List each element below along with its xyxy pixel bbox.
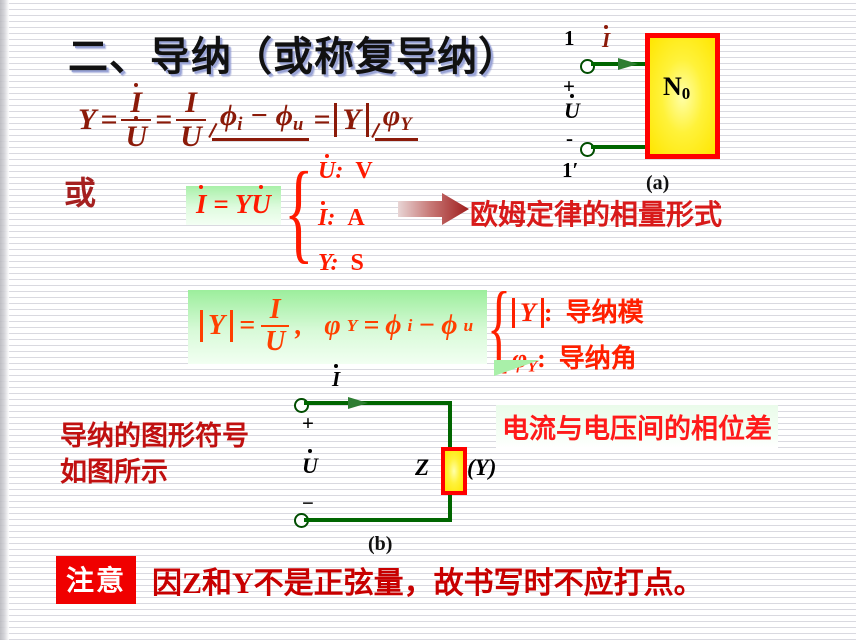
unit-value-V: V bbox=[355, 158, 372, 184]
curly-brace-icon: { bbox=[284, 160, 314, 265]
mod-phi-u-subscript: u bbox=[463, 316, 473, 336]
equation-i-equals-yu: I = YU bbox=[186, 186, 281, 225]
phase-difference-label: 电流与电压间的相位差 bbox=[496, 405, 778, 448]
admittance-symbol-note-line1: 导纳的图形符号 bbox=[60, 418, 249, 454]
unit-value-A: A bbox=[347, 205, 364, 231]
eq-equals-1: = bbox=[100, 103, 117, 137]
ohm-law-phasor-label: 欧姆定律的相量形式 bbox=[470, 193, 722, 233]
abs-Y-2: Y bbox=[200, 310, 233, 342]
mod-phi-i-subscript: i bbox=[407, 316, 412, 336]
admittance-symbol-note-line2: 如图所示 bbox=[60, 454, 249, 490]
fig-b-plus-sign: + bbox=[302, 411, 314, 436]
mod-phiY: φ bbox=[324, 310, 340, 342]
denominator-U: U bbox=[176, 119, 206, 152]
fig-b-wire-bottom bbox=[304, 518, 452, 522]
fig-a-current-label: I bbox=[602, 28, 610, 53]
fraction-Idot-over-Udot: I U bbox=[121, 88, 151, 152]
definitions-curly-brace-icon: { bbox=[487, 282, 511, 372]
label-or: 或 bbox=[64, 168, 96, 214]
mod-equals-1: = bbox=[239, 310, 255, 342]
eq-equals-3: = bbox=[313, 103, 330, 137]
definition-text-angle: 导纳角 bbox=[559, 344, 637, 373]
phi-i: ϕ bbox=[220, 99, 237, 132]
fig-b-admittance-label: (Y) bbox=[467, 455, 496, 481]
fig-a-voltage-label: U bbox=[564, 98, 580, 124]
callout-tail-green bbox=[494, 360, 540, 376]
fig-a-current-arrowhead-icon bbox=[618, 55, 640, 78]
eq-U-dot: U bbox=[251, 189, 271, 220]
fig-a-minus-sign: - bbox=[566, 126, 573, 151]
unit-row-current: I: A bbox=[318, 205, 365, 232]
fig-a-terminal-1prime-label: 1′ bbox=[562, 158, 578, 183]
mod-phi-u: ϕ bbox=[441, 310, 457, 342]
figure-a-two-port-network: 1 I + U - 1′ N0 (a) bbox=[560, 30, 740, 195]
unit-symbol-Y: Y bbox=[318, 250, 330, 276]
fig-b-caption: (b) bbox=[368, 533, 392, 556]
definition-modulus: Y: 导纳模 bbox=[512, 292, 644, 329]
mod-denominator-U: U bbox=[261, 325, 289, 356]
note-text: 因Z和Y不是正弦量，故书写时不应打点。 bbox=[152, 558, 704, 602]
fig-a-caption: (a) bbox=[646, 172, 669, 195]
fraction-I-over-U-2: I U bbox=[261, 296, 289, 356]
definition-text-modulus: 导纳模 bbox=[566, 298, 644, 327]
mod-comma: , bbox=[295, 310, 302, 342]
figure-b-impedance-symbol: I + U − Z (Y) (b) bbox=[290, 375, 540, 545]
equation-main-admittance: Y = I U = I U ϕi − ϕu = Y φY bbox=[78, 88, 418, 152]
mod-numerator-I: I bbox=[266, 296, 285, 325]
mod-phiY-subscript: Y bbox=[347, 316, 358, 336]
fig-b-current-arrowhead-icon bbox=[348, 394, 370, 417]
eq-I-dot: I bbox=[196, 189, 207, 220]
angle-symbol-1: ϕi − ϕu bbox=[210, 99, 309, 140]
fig-a-terminal-1-label: 1 bbox=[564, 26, 575, 51]
angle-symbol-2: φY bbox=[373, 99, 418, 140]
unit-row-voltage: U: V bbox=[318, 158, 373, 185]
right-arrow-icon bbox=[398, 192, 470, 226]
fig-b-impedance-element bbox=[441, 447, 467, 495]
fig-a-wire-bottom bbox=[591, 145, 645, 149]
abs-Y: Y bbox=[334, 103, 368, 137]
eq-equals: = bbox=[213, 189, 228, 219]
fig-b-impedance-label: Z bbox=[415, 455, 429, 481]
equation-modulus-and-angle: Y = I U , φY = ϕi − ϕu bbox=[188, 290, 487, 364]
numerator-I: I bbox=[181, 88, 201, 119]
numerator-I-dot: I bbox=[126, 88, 146, 119]
fig-b-wire-top bbox=[304, 401, 452, 405]
left-gutter bbox=[0, 0, 9, 640]
fig-a-network-label-sub: 0 bbox=[682, 84, 691, 103]
phi-u: ϕ bbox=[276, 99, 293, 132]
page-title: 二、导纳（或称复导纳） bbox=[68, 24, 519, 82]
mod-equals-2: = bbox=[363, 310, 379, 342]
fig-b-voltage-label: U bbox=[302, 453, 318, 479]
unit-symbol-I: I bbox=[318, 205, 327, 232]
unit-row-admittance: Y: S bbox=[318, 250, 364, 277]
eq-symbol-Y: Y bbox=[78, 103, 96, 137]
fig-a-network-label-N: N bbox=[663, 72, 682, 101]
minus-sign-1: − bbox=[250, 99, 268, 132]
phi-i-subscript: i bbox=[237, 115, 242, 136]
units-brace-group: { U: V I: A Y: S bbox=[284, 160, 414, 278]
fig-a-network-label: N0 bbox=[663, 72, 690, 104]
fig-b-current-label: I bbox=[332, 367, 340, 392]
fraction-I-over-U: I U bbox=[176, 88, 206, 152]
unit-symbol-U: U bbox=[318, 158, 335, 185]
unit-value-S: S bbox=[350, 250, 363, 276]
mod-minus: − bbox=[418, 310, 435, 342]
phi-u-subscript: u bbox=[293, 115, 303, 136]
definition-symbol-absY: Y bbox=[512, 298, 544, 328]
phi-Y-subscript: Y bbox=[400, 115, 411, 136]
admittance-symbol-note: 导纳的图形符号 如图所示 bbox=[60, 418, 249, 491]
mod-phi-i: ϕ bbox=[385, 310, 401, 342]
fig-b-wire-right-upper bbox=[448, 401, 452, 450]
slide-canvas: 二、导纳（或称复导纳） Y = I U = I U ϕi − ϕu = Y φY… bbox=[0, 0, 856, 640]
eq-Y: Y bbox=[235, 189, 252, 219]
eq-equals-2: = bbox=[155, 103, 172, 137]
phi-Y: φ bbox=[383, 99, 401, 132]
note-badge: 注意 bbox=[56, 556, 136, 604]
fig-b-minus-sign: − bbox=[302, 491, 314, 516]
denominator-U-dot: U bbox=[121, 119, 151, 152]
